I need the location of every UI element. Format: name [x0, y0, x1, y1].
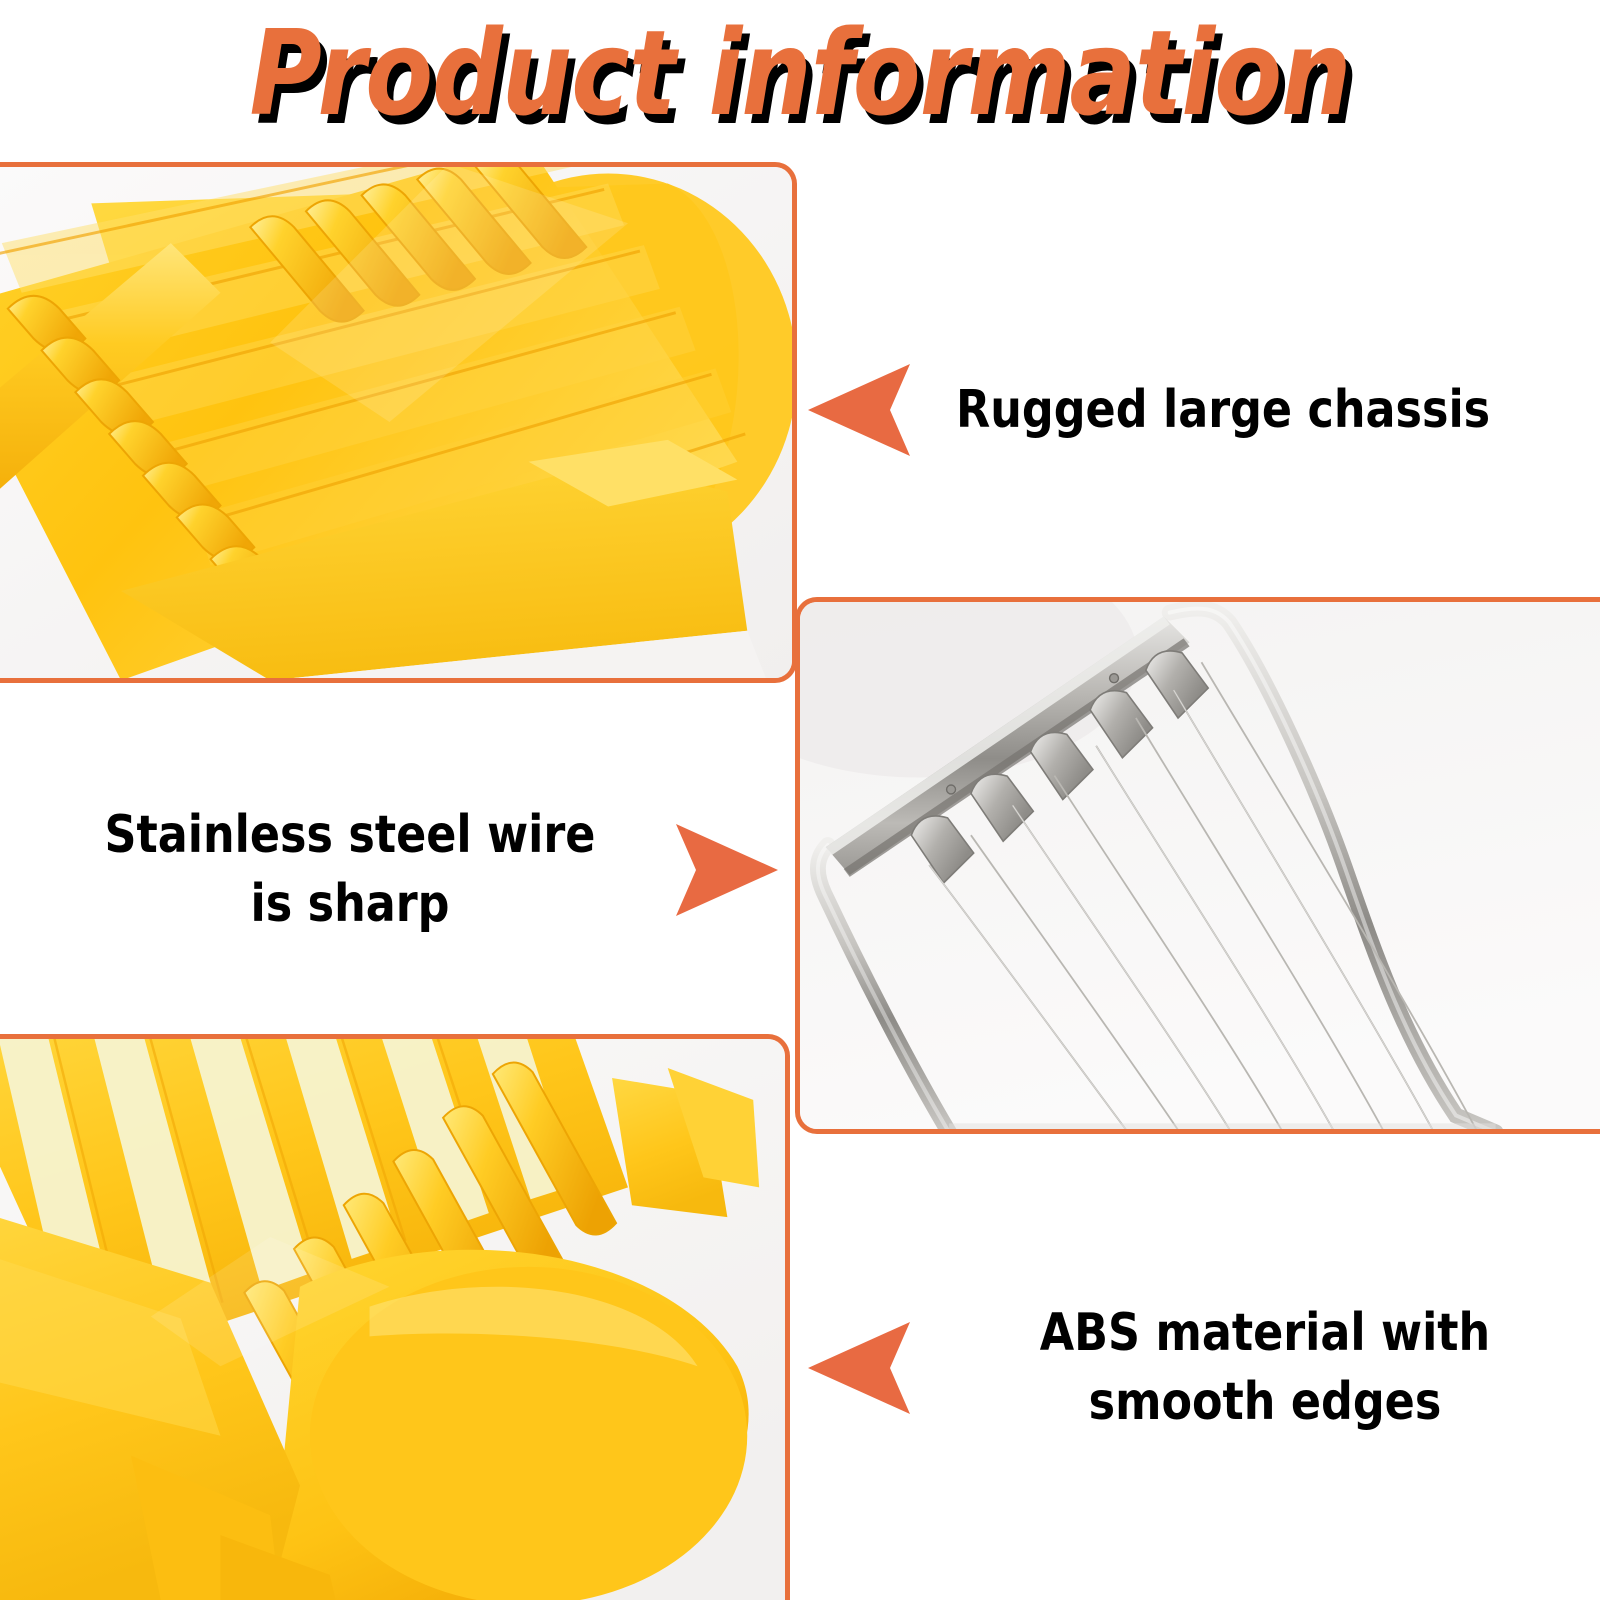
callout-label: Stainless steel wire is sharp — [56, 801, 645, 938]
infographic-canvas: Product information — [0, 0, 1600, 1600]
arrow-left-icon — [806, 1320, 916, 1416]
photo-panel-abs-body — [0, 1034, 790, 1600]
arrow-right-icon — [670, 822, 780, 918]
callout-label: Rugged large chassis — [956, 376, 1490, 445]
page-title: Product information — [56, 4, 1544, 143]
callout-stainless-steel-wire: Stainless steel wire is sharp — [40, 790, 780, 950]
arrow-left-icon — [806, 362, 916, 458]
callout-abs-material: ABS material with smooth edges — [806, 1278, 1596, 1458]
abs-body-photo — [0, 1039, 785, 1600]
photo-panel-rugged-chassis — [0, 162, 797, 683]
stainless-wire-photo — [800, 602, 1600, 1129]
rugged-chassis-photo — [0, 167, 792, 678]
callout-rugged-large-chassis: Rugged large chassis — [806, 360, 1596, 460]
callout-label: ABS material with smooth edges — [951, 1299, 1580, 1436]
photo-panel-stainless-wire — [795, 597, 1600, 1134]
